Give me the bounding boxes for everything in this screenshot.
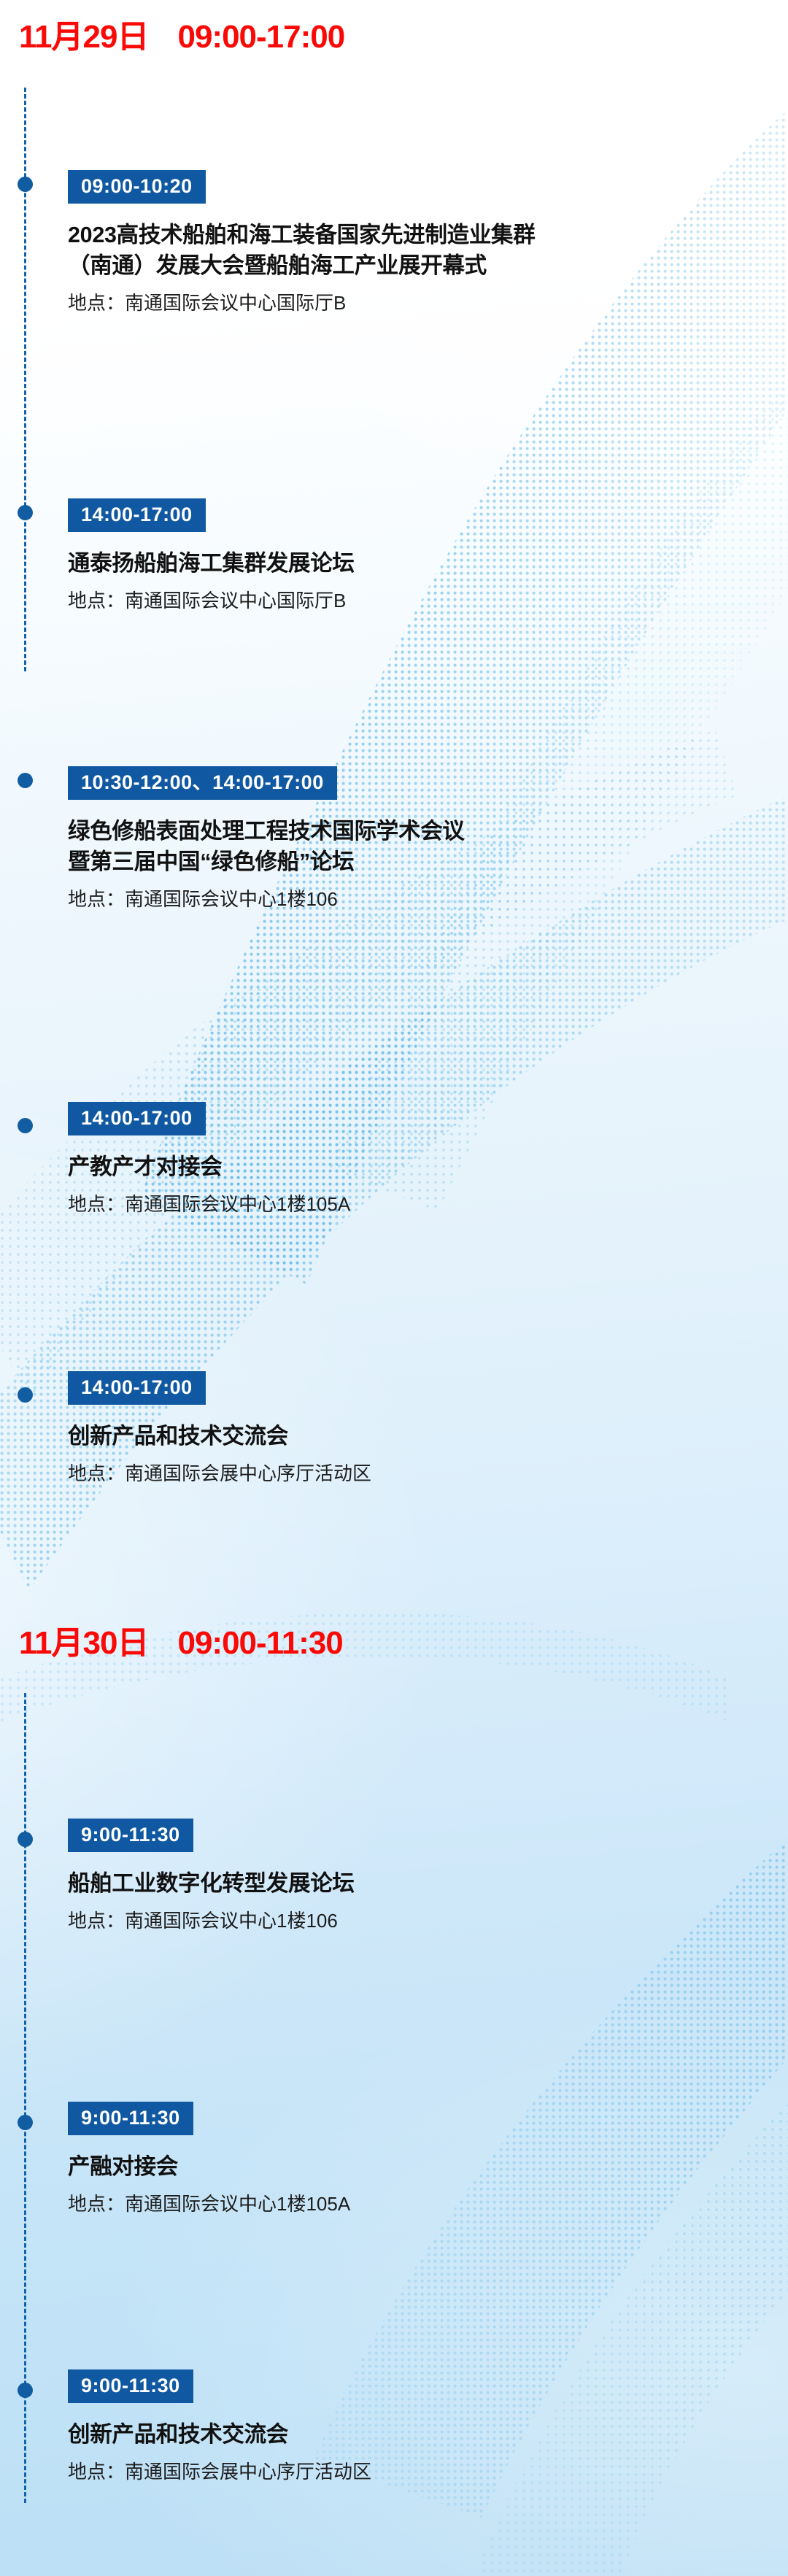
event-title: 创新产品和技术交流会 xyxy=(68,2419,371,2450)
event-title: 通泰扬船舶海工集群发展论坛 xyxy=(68,548,355,579)
event-location: 地点：南通国际会议中心1楼106 xyxy=(68,1909,355,1934)
event-location: 地点：南通国际会议中心国际厅B xyxy=(68,589,355,614)
timeline-dot xyxy=(18,773,33,788)
event-title-line: 产教产才对接会 xyxy=(68,1152,350,1182)
event-title-line: 暨第三届中国“绿色修船”论坛 xyxy=(68,847,465,877)
day-header-2: 11月30日 09:00-11:30 xyxy=(19,1616,343,1663)
timeline-dot xyxy=(18,2115,33,2130)
event-location: 地点：南通国际会议中心1楼106 xyxy=(68,887,465,912)
event-card[interactable]: 09:00-10:20 2023高技术船舶和海工装备国家先进制造业集群 （南通）… xyxy=(68,170,535,316)
event-title-line: 2023高技术船舶和海工装备国家先进制造业集群 xyxy=(68,220,535,250)
timeline-dot xyxy=(18,1832,33,1847)
event-time-badge: 09:00-10:20 xyxy=(68,170,206,204)
event-title: 产融对接会 xyxy=(68,2151,350,2182)
event-title-line: 绿色修船表面处理工程技术国际学术会议 xyxy=(68,816,465,847)
event-title: 创新产品和技术交流会 xyxy=(68,1421,371,1451)
day-1-time-range: 09:00-17:00 xyxy=(177,19,344,55)
day-2-date: 11月30日 xyxy=(19,1616,148,1663)
timeline-dot xyxy=(18,1387,33,1403)
event-location: 地点：南通国际会展中心序厅活动区 xyxy=(68,1462,371,1486)
event-time-badge: 9:00-11:30 xyxy=(68,1819,193,1852)
event-time-badge: 9:00-11:30 xyxy=(68,2369,193,2403)
timeline-dot xyxy=(18,177,33,192)
event-location: 地点：南通国际会议中心1楼105A xyxy=(68,1192,350,1217)
event-time-badge: 10:30-12:00、14:00-17:00 xyxy=(68,766,337,800)
event-card[interactable]: 9:00-11:30 创新产品和技术交流会 地点：南通国际会展中心序厅活动区 xyxy=(68,2369,371,2484)
event-time-badge: 14:00-17:00 xyxy=(68,1371,206,1405)
event-location: 地点：南通国际会展中心序厅活动区 xyxy=(68,2460,371,2485)
event-title-line: 创新产品和技术交流会 xyxy=(68,1421,371,1451)
event-card[interactable]: 9:00-11:30 产融对接会 地点：南通国际会议中心1楼105A xyxy=(68,2102,350,2216)
timeline-rail-day-2 xyxy=(19,1686,31,2503)
event-time-badge: 9:00-11:30 xyxy=(68,2102,193,2135)
event-title-line: 创新产品和技术交流会 xyxy=(68,2419,371,2450)
event-title: 绿色修船表面处理工程技术国际学术会议 暨第三届中国“绿色修船”论坛 xyxy=(68,816,465,877)
day-1-date: 11月29日 xyxy=(19,10,148,57)
event-title: 2023高技术船舶和海工装备国家先进制造业集群 （南通）发展大会暨船舶海工产业展… xyxy=(68,220,535,281)
event-title: 船舶工业数字化转型发展论坛 xyxy=(68,1868,355,1899)
event-title: 产教产才对接会 xyxy=(68,1152,350,1182)
event-time-badge: 14:00-17:00 xyxy=(68,498,206,532)
timeline-dot xyxy=(18,505,33,520)
timeline-rail-day-1 xyxy=(19,80,31,671)
event-title-line: 产融对接会 xyxy=(68,2151,350,2182)
event-title-line: 通泰扬船舶海工集群发展论坛 xyxy=(68,548,355,579)
event-card[interactable]: 14:00-17:00 创新产品和技术交流会 地点：南通国际会展中心序厅活动区 xyxy=(68,1371,371,1486)
timeline-dot xyxy=(18,2383,33,2398)
event-location: 地点：南通国际会议中心国际厅B xyxy=(68,291,535,316)
day-2-time-range: 09:00-11:30 xyxy=(177,1625,342,1662)
event-time-badge: 14:00-17:00 xyxy=(68,1102,206,1135)
event-location: 地点：南通国际会议中心1楼105A xyxy=(68,2192,350,2217)
timeline-dot xyxy=(18,1118,33,1133)
event-card[interactable]: 14:00-17:00 通泰扬船舶海工集群发展论坛 地点：南通国际会议中心国际厅… xyxy=(68,498,355,613)
event-card[interactable]: 14:00-17:00 产教产才对接会 地点：南通国际会议中心1楼105A xyxy=(68,1102,350,1216)
timeline-dashed-line xyxy=(24,1693,26,2503)
timeline-dashed-line xyxy=(24,88,26,671)
event-card[interactable]: 10:30-12:00、14:00-17:00 绿色修船表面处理工程技术国际学术… xyxy=(68,766,465,912)
event-title-line: 船舶工业数字化转型发展论坛 xyxy=(68,1868,355,1899)
day-header-1: 11月29日 09:00-17:00 xyxy=(19,10,344,57)
event-title-line: （南通）发展大会暨船舶海工产业展开幕式 xyxy=(68,250,535,281)
event-card[interactable]: 9:00-11:30 船舶工业数字化转型发展论坛 地点：南通国际会议中心1楼10… xyxy=(68,1819,355,1933)
